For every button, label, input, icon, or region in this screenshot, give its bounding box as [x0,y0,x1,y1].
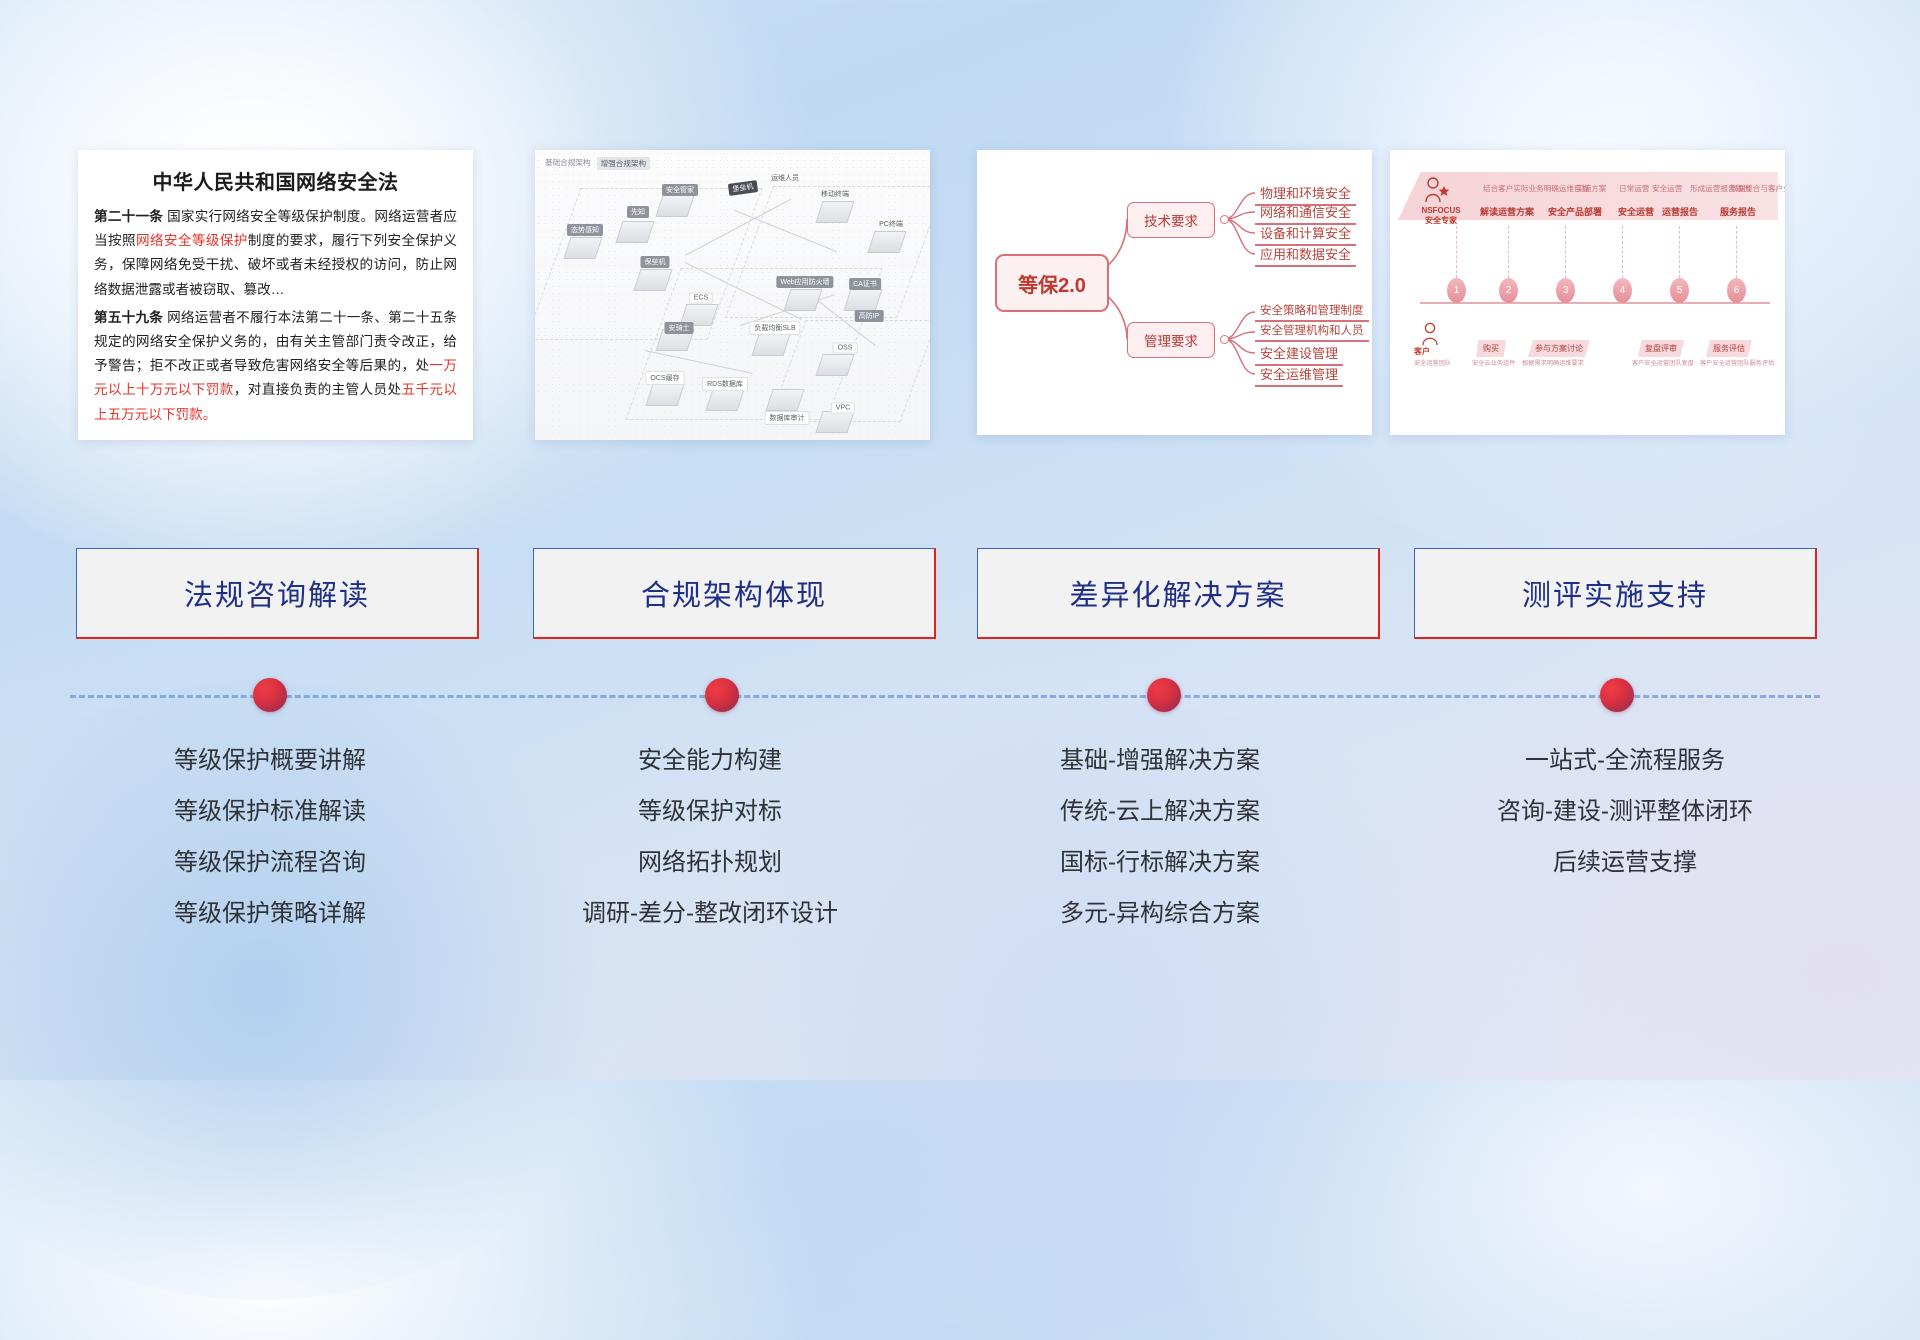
step-stem-2 [1508,226,1510,278]
mindmap-leaf-org-people: 安全管理机构和人员 [1255,321,1369,342]
bottom-badge-evaluate: 服务评估 [1706,340,1752,357]
mindmap-canvas: 等保2.0 技术要求 物理和环境安全 网络和通信安全 设备和计算安全 应用和数据… [977,150,1372,435]
list-item: 咨询-建设-测评整体闭环 [1400,786,1850,837]
law-body: 第二十一条 国家实行网络安全等级保护制度。网络运营者应当按照网络安全等级保护制度… [78,205,473,427]
step-1-caption: 结合客户实际业务明确运维目标 [1483,183,1589,194]
tab-basic-architecture[interactable]: 基础合规架构 [545,157,591,170]
card-law-document[interactable]: 中华人民共和国网络安全法 第二十一条 国家实行网络安全等级保护制度。网络运营者应… [78,150,473,440]
timeline-step-dot-6[interactable]: 6 [1727,278,1746,303]
card-mindmap[interactable]: 等保2.0 技术要求 物理和环境安全 网络和通信安全 设备和计算安全 应用和数据… [977,150,1372,435]
category-button-differentiated-solution[interactable]: 差异化解决方案 [977,548,1380,639]
expert-person-icon [1420,176,1456,206]
mindmap-root-node[interactable]: 等保2.0 [995,254,1109,312]
bottom-badge-review-caption: 客户安全运营团队复盘 [1632,358,1694,367]
law-title: 中华人民共和国网络安全法 [78,166,473,195]
list-item: 国标-行标解决方案 [950,837,1370,888]
timeline-step-dot-4[interactable]: 4 [1613,278,1632,303]
step-5-title: 服务报告 [1720,205,1756,218]
service-timeline-canvas: NSFOCUS 安全专家 结合客户实际业务明确运维目标 实施方案 日常运营 安全… [1390,150,1785,435]
list-item: 一站式-全流程服务 [1400,735,1850,786]
detail-list-regulation: 等级保护概要讲解 等级保护标准解读 等级保护流程咨询 等级保护策略详解 [60,735,480,939]
mindmap-knob-technical[interactable] [1220,215,1229,224]
list-item: 基础-增强解决方案 [950,735,1370,786]
mindmap-branch-technical[interactable]: 技术要求 [1127,202,1215,238]
bottom-badge-evaluate-caption: 客户安全运营团队服务评估 [1700,358,1774,367]
expert-brand-label: NSFOCUS [1412,206,1470,216]
timeline-node-1[interactable] [253,678,287,712]
article-59-text-b: ，对直接负责的主管人员处 [234,382,402,397]
cards-row: 中华人民共和国网络安全法 第二十一条 国家实行网络安全等级保护制度。网络运营者应… [0,150,1920,445]
customer-person-icon [1418,322,1448,348]
step-stem-5 [1679,226,1681,278]
mindmap-leaf-app-data: 应用和数据安全 [1255,243,1356,267]
step-2-caption: 实施方案 [1576,183,1606,194]
mindmap-leaf-policy-system: 安全策略和管理制度 [1255,301,1369,322]
detail-list-architecture: 安全能力构建 等级保护对标 网络拓扑规划 调研-差分-整改闭环设计 [500,735,920,939]
timeline-node-2[interactable] [705,678,739,712]
timeline-step-dot-1[interactable]: 1 [1447,278,1466,303]
article-21-label: 第二十一条 [94,209,163,224]
label-ca-cert: CA证书 [849,278,881,290]
step-1-title: 解读运营方案 [1480,205,1534,218]
label-slb: 负载均衡SLB [749,321,800,335]
list-item: 多元-异构综合方案 [950,888,1370,939]
law-article-21: 第二十一条 国家实行网络安全等级保护制度。网络运营者应当按照网络安全等级保护制度… [94,205,457,302]
step-4-title: 运营报告 [1662,205,1698,218]
step-stem-4 [1622,226,1624,278]
timeline-node-4[interactable] [1600,678,1634,712]
bottom-badge-review: 复盘评审 [1638,340,1684,357]
step-2-title: 安全产品部署 [1548,205,1602,218]
label-ecs: ECS [689,293,713,304]
expert-brand-sublabel: 安全专家 [1412,216,1470,226]
label-security-butler: 安全管家 [662,184,698,196]
step-stem-1 [1456,226,1458,278]
step-3-title: 安全运营 [1618,205,1654,218]
bottom-badge-discuss: 参与方案讨论 [1528,340,1590,357]
card-architecture-diagram[interactable]: 基础合规架构 增强合规架构 [535,150,930,440]
step-3-caption: 日常运营 [1619,183,1649,194]
step-4-caption: 安全运营 [1652,183,1682,194]
category-button-regulation-consulting[interactable]: 法规咨询解读 [76,548,479,639]
timeline-dashed-line [70,695,1820,702]
label-foresight: 先知 [627,206,649,218]
list-item: 网络拓扑规划 [500,837,920,888]
law-article-59: 第五十九条 网络运营者不履行本法第二十一条、第二十五条规定的网络安全保护义务的，… [94,306,457,427]
label-agent: 安骑士 [665,322,694,334]
list-item: 传统-云上解决方案 [950,786,1370,837]
customer-sublabel: 安全运营团队 [1414,358,1451,367]
label-ops-staff: 运维人员 [767,172,803,184]
detail-list-solution: 基础-增强解决方案 传统-云上解决方案 国标-行标解决方案 多元-异构综合方案 [950,735,1370,939]
label-pc-terminal: PC终端 [875,218,907,230]
label-anti-ddos-ip: 高防IP [855,310,884,322]
tab-enhanced-architecture[interactable]: 增强合规架构 [597,157,651,170]
label-situational-awareness: 态势感知 [567,224,603,236]
list-item: 调研-差分-整改闭环设计 [500,888,920,939]
list-item: 等级保护标准解读 [60,786,480,837]
architecture-tabs[interactable]: 基础合规架构 增强合规架构 [545,157,650,170]
timeline-step-dot-3[interactable]: 3 [1556,278,1575,303]
label-oss: OSS [833,343,858,354]
list-item: 等级保护概要讲解 [60,735,480,786]
detail-list-assessment: 一站式-全流程服务 咨询-建设-测评整体闭环 后续运营支撑 [1400,735,1850,888]
timeline-axis-line [1420,302,1770,304]
mindmap-knob-management[interactable] [1220,335,1229,344]
category-button-row: 法规咨询解读 合规架构体现 差异化解决方案 测评实施支持 [0,548,1920,638]
label-ocs-cache: OCS缓存 [645,371,684,385]
customer-label: 客户 [1414,346,1430,357]
architecture-canvas: 基础合规架构 增强合规架构 [535,150,930,440]
label-rds-database: RDS数据库 [702,377,748,391]
category-button-assessment-support[interactable]: 测评实施支持 [1414,548,1817,639]
step-stem-3 [1565,226,1567,278]
list-item: 等级保护流程咨询 [60,837,480,888]
label-bastion-host: 保垒机 [641,256,670,268]
label-waf: Web应用防火墙 [776,276,833,288]
label-database-audit: 数据库审计 [765,411,810,425]
step-stem-6 [1736,226,1738,278]
list-item: 等级保护对标 [500,786,920,837]
timeline-step-dot-5[interactable]: 5 [1670,278,1689,303]
step-6-caption: 数据整合与客户业务对接落地 [1730,183,1785,194]
card-service-timeline[interactable]: NSFOCUS 安全专家 结合客户实际业务明确运维目标 实施方案 日常运营 安全… [1390,150,1785,435]
label-mobile-terminal: 移动终端 [817,188,853,200]
label-vpc: VPC [831,403,855,414]
article-59-label: 第五十九条 [94,310,163,325]
mindmap-branch-management[interactable]: 管理要求 [1127,322,1215,358]
timeline-node-3[interactable] [1147,678,1181,712]
timeline-step-dot-2[interactable]: 2 [1499,278,1518,303]
list-item: 安全能力构建 [500,735,920,786]
bottom-badge-purchase: 购买 [1476,340,1506,357]
bottom-badge-purchase-caption: 安全云业务组件 [1472,358,1515,367]
category-button-compliance-architecture[interactable]: 合规架构体现 [533,548,936,639]
list-item: 后续运营支撑 [1400,837,1850,888]
bottom-badge-discuss-caption: 根据需求明确运维要求 [1522,358,1584,367]
list-item: 等级保护策略详解 [60,888,480,939]
mindmap-leaf-ops-mgmt: 安全运维管理 [1255,363,1343,387]
article-21-highlight: 网络安全等级保护 [136,233,248,248]
